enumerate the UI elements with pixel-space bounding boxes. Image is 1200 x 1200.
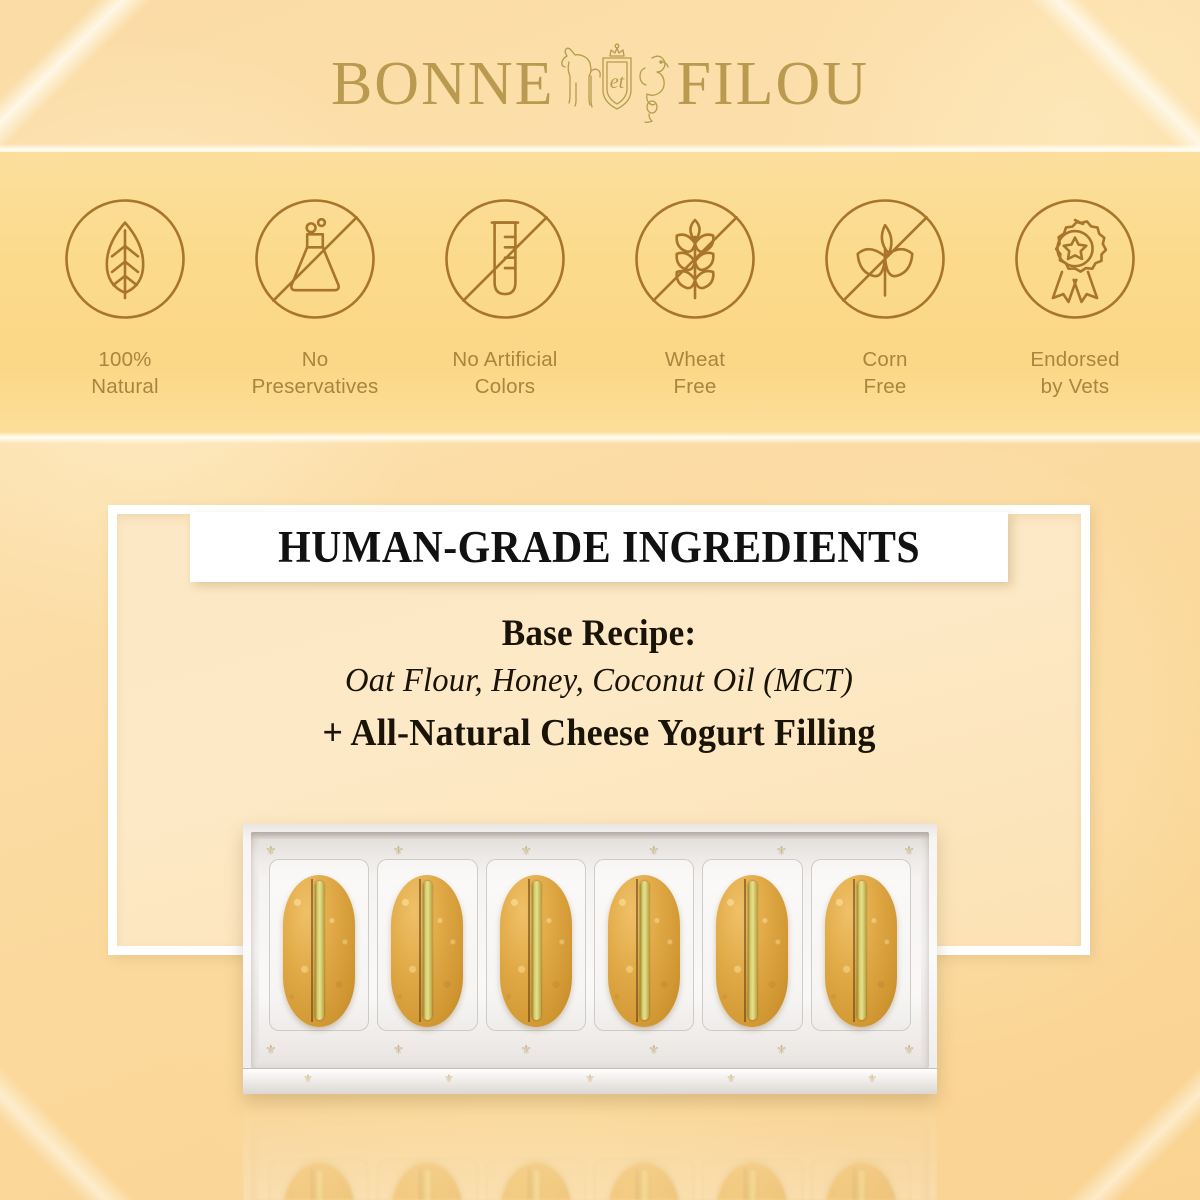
tray-cell bbox=[482, 1128, 590, 1200]
crest-motto-text: et bbox=[609, 71, 624, 93]
macaron-filling bbox=[857, 1170, 866, 1200]
macaron bbox=[716, 1164, 788, 1200]
macaron-seam bbox=[419, 1168, 421, 1200]
macaron bbox=[283, 1164, 355, 1200]
macaron-seam bbox=[744, 1168, 746, 1200]
badge-endorsed-by-vets-label: Endorsed by Vets bbox=[1030, 346, 1119, 400]
macaron-filling bbox=[857, 881, 866, 1021]
reflection-box-front bbox=[243, 1096, 937, 1122]
macaron-filling bbox=[423, 881, 432, 1021]
fleur-de-lis-icon: ⚜ bbox=[726, 1074, 736, 1085]
tray-cell bbox=[373, 1128, 481, 1200]
tray-cell bbox=[373, 839, 481, 1062]
no-test-tube-icon bbox=[440, 194, 570, 324]
macaron-seam bbox=[636, 1168, 638, 1200]
macaron-filling bbox=[748, 1170, 757, 1200]
tray-cell bbox=[807, 839, 915, 1062]
no-flask-icon bbox=[250, 194, 380, 324]
badge-wheat-free[interactable]: Wheat Free bbox=[602, 194, 788, 400]
brand-name-left: BONNE bbox=[331, 53, 555, 115]
macaron-seam bbox=[853, 1168, 855, 1200]
macaron-filling bbox=[532, 881, 541, 1021]
macaron-filling bbox=[315, 1170, 324, 1200]
recipe-filling: + All-Natural Cheese Yogurt Filling bbox=[133, 711, 1066, 755]
tray-cell bbox=[265, 1128, 373, 1200]
macaron bbox=[608, 1164, 680, 1200]
badge-wheat-free-label: Wheat Free bbox=[665, 346, 725, 400]
badge-natural[interactable]: 100% Natural bbox=[32, 194, 218, 400]
header: BONNE bbox=[0, 0, 1200, 150]
trust-badge-list: 100% Natural No Preservatives bbox=[0, 152, 1200, 437]
brand-logo[interactable]: BONNE bbox=[0, 38, 1200, 130]
macaron bbox=[825, 875, 897, 1027]
fleur-de-lis-icon: ⚜ bbox=[585, 1074, 595, 1085]
box-front-ornaments: ⚜ ⚜ ⚜ ⚜ ⚜ bbox=[303, 1074, 877, 1085]
tray-cell bbox=[698, 839, 806, 1062]
macaron bbox=[608, 875, 680, 1027]
no-wheat-icon bbox=[630, 194, 760, 324]
badge-no-artificial-colors[interactable]: No Artificial Colors bbox=[412, 194, 598, 400]
macaron-seam bbox=[744, 879, 746, 1022]
badge-no-preservatives-label: No Preservatives bbox=[252, 346, 379, 400]
promo-graphic: BONNE bbox=[0, 0, 1200, 1200]
macaron-seam bbox=[636, 879, 638, 1022]
macaron bbox=[391, 875, 463, 1027]
recipe-base-ingredients: Oat Flour, Honey, Coconut Oil (MCT) bbox=[128, 662, 1071, 700]
badge-natural-label: 100% Natural bbox=[91, 346, 159, 400]
fleur-de-lis-icon: ⚜ bbox=[303, 1074, 313, 1085]
macaron-filling bbox=[640, 881, 649, 1021]
macaron-seam bbox=[311, 879, 313, 1022]
recipe-block: Base Recipe: Oat Flour, Honey, Coconut O… bbox=[108, 612, 1090, 755]
macaron bbox=[825, 1164, 897, 1200]
tray-cell bbox=[590, 839, 698, 1062]
tray-cell bbox=[482, 839, 590, 1062]
brand-name-right: FILOU bbox=[677, 53, 870, 115]
leaf-icon bbox=[60, 194, 190, 324]
macaron-filling bbox=[532, 1170, 541, 1200]
macaron-seam bbox=[419, 879, 421, 1022]
badge-endorsed-by-vets[interactable]: Endorsed by Vets bbox=[982, 194, 1168, 400]
tray-cell bbox=[590, 1128, 698, 1200]
macaron-seam bbox=[528, 1168, 530, 1200]
macaron-tray bbox=[259, 839, 921, 1062]
award-ribbon-icon bbox=[1010, 194, 1140, 324]
badge-no-artificial-colors-label: No Artificial Colors bbox=[452, 346, 557, 400]
macaron-filling bbox=[748, 881, 757, 1021]
fleur-de-lis-icon: ⚜ bbox=[444, 1074, 454, 1085]
dog-poodle-shield-crest-icon: et bbox=[557, 38, 675, 130]
product-photo-reflection bbox=[243, 1096, 937, 1200]
tray-cell bbox=[698, 1128, 806, 1200]
product-box-front-edge: ⚜ ⚜ ⚜ ⚜ ⚜ bbox=[243, 1068, 937, 1094]
tray-cell bbox=[265, 839, 373, 1062]
macaron bbox=[391, 1164, 463, 1200]
macaron-filling bbox=[640, 1170, 649, 1200]
macaron bbox=[500, 875, 572, 1027]
page-title: HUMAN-GRADE INGREDIENTS bbox=[278, 521, 920, 573]
product-reflection-body bbox=[243, 1096, 937, 1200]
recipe-heading: Base Recipe: bbox=[133, 612, 1066, 655]
badge-corn-free[interactable]: Corn Free bbox=[792, 194, 978, 400]
macaron bbox=[716, 875, 788, 1027]
no-corn-icon bbox=[820, 194, 950, 324]
macaron-seam bbox=[853, 879, 855, 1022]
badge-corn-free-label: Corn Free bbox=[862, 346, 907, 400]
product-photo[interactable]: ⚜ ⚜ ⚜ ⚜ ⚜ ⚜ ⚜ ⚜ ⚜ ⚜ ⚜ ⚜ ⚜ ⚜ ⚜ ⚜ ⚜ bbox=[243, 824, 937, 1094]
macaron-seam bbox=[311, 1168, 313, 1200]
macaron-seam bbox=[528, 879, 530, 1022]
fleur-de-lis-icon: ⚜ bbox=[867, 1074, 877, 1085]
macaron bbox=[283, 875, 355, 1027]
title-banner: HUMAN-GRADE INGREDIENTS bbox=[190, 512, 1008, 582]
reflection-tray bbox=[259, 1128, 921, 1200]
badge-no-preservatives[interactable]: No Preservatives bbox=[222, 194, 408, 400]
macaron bbox=[500, 1164, 572, 1200]
macaron-filling bbox=[423, 1170, 432, 1200]
macaron-filling bbox=[315, 881, 324, 1021]
tray-cell bbox=[807, 1128, 915, 1200]
